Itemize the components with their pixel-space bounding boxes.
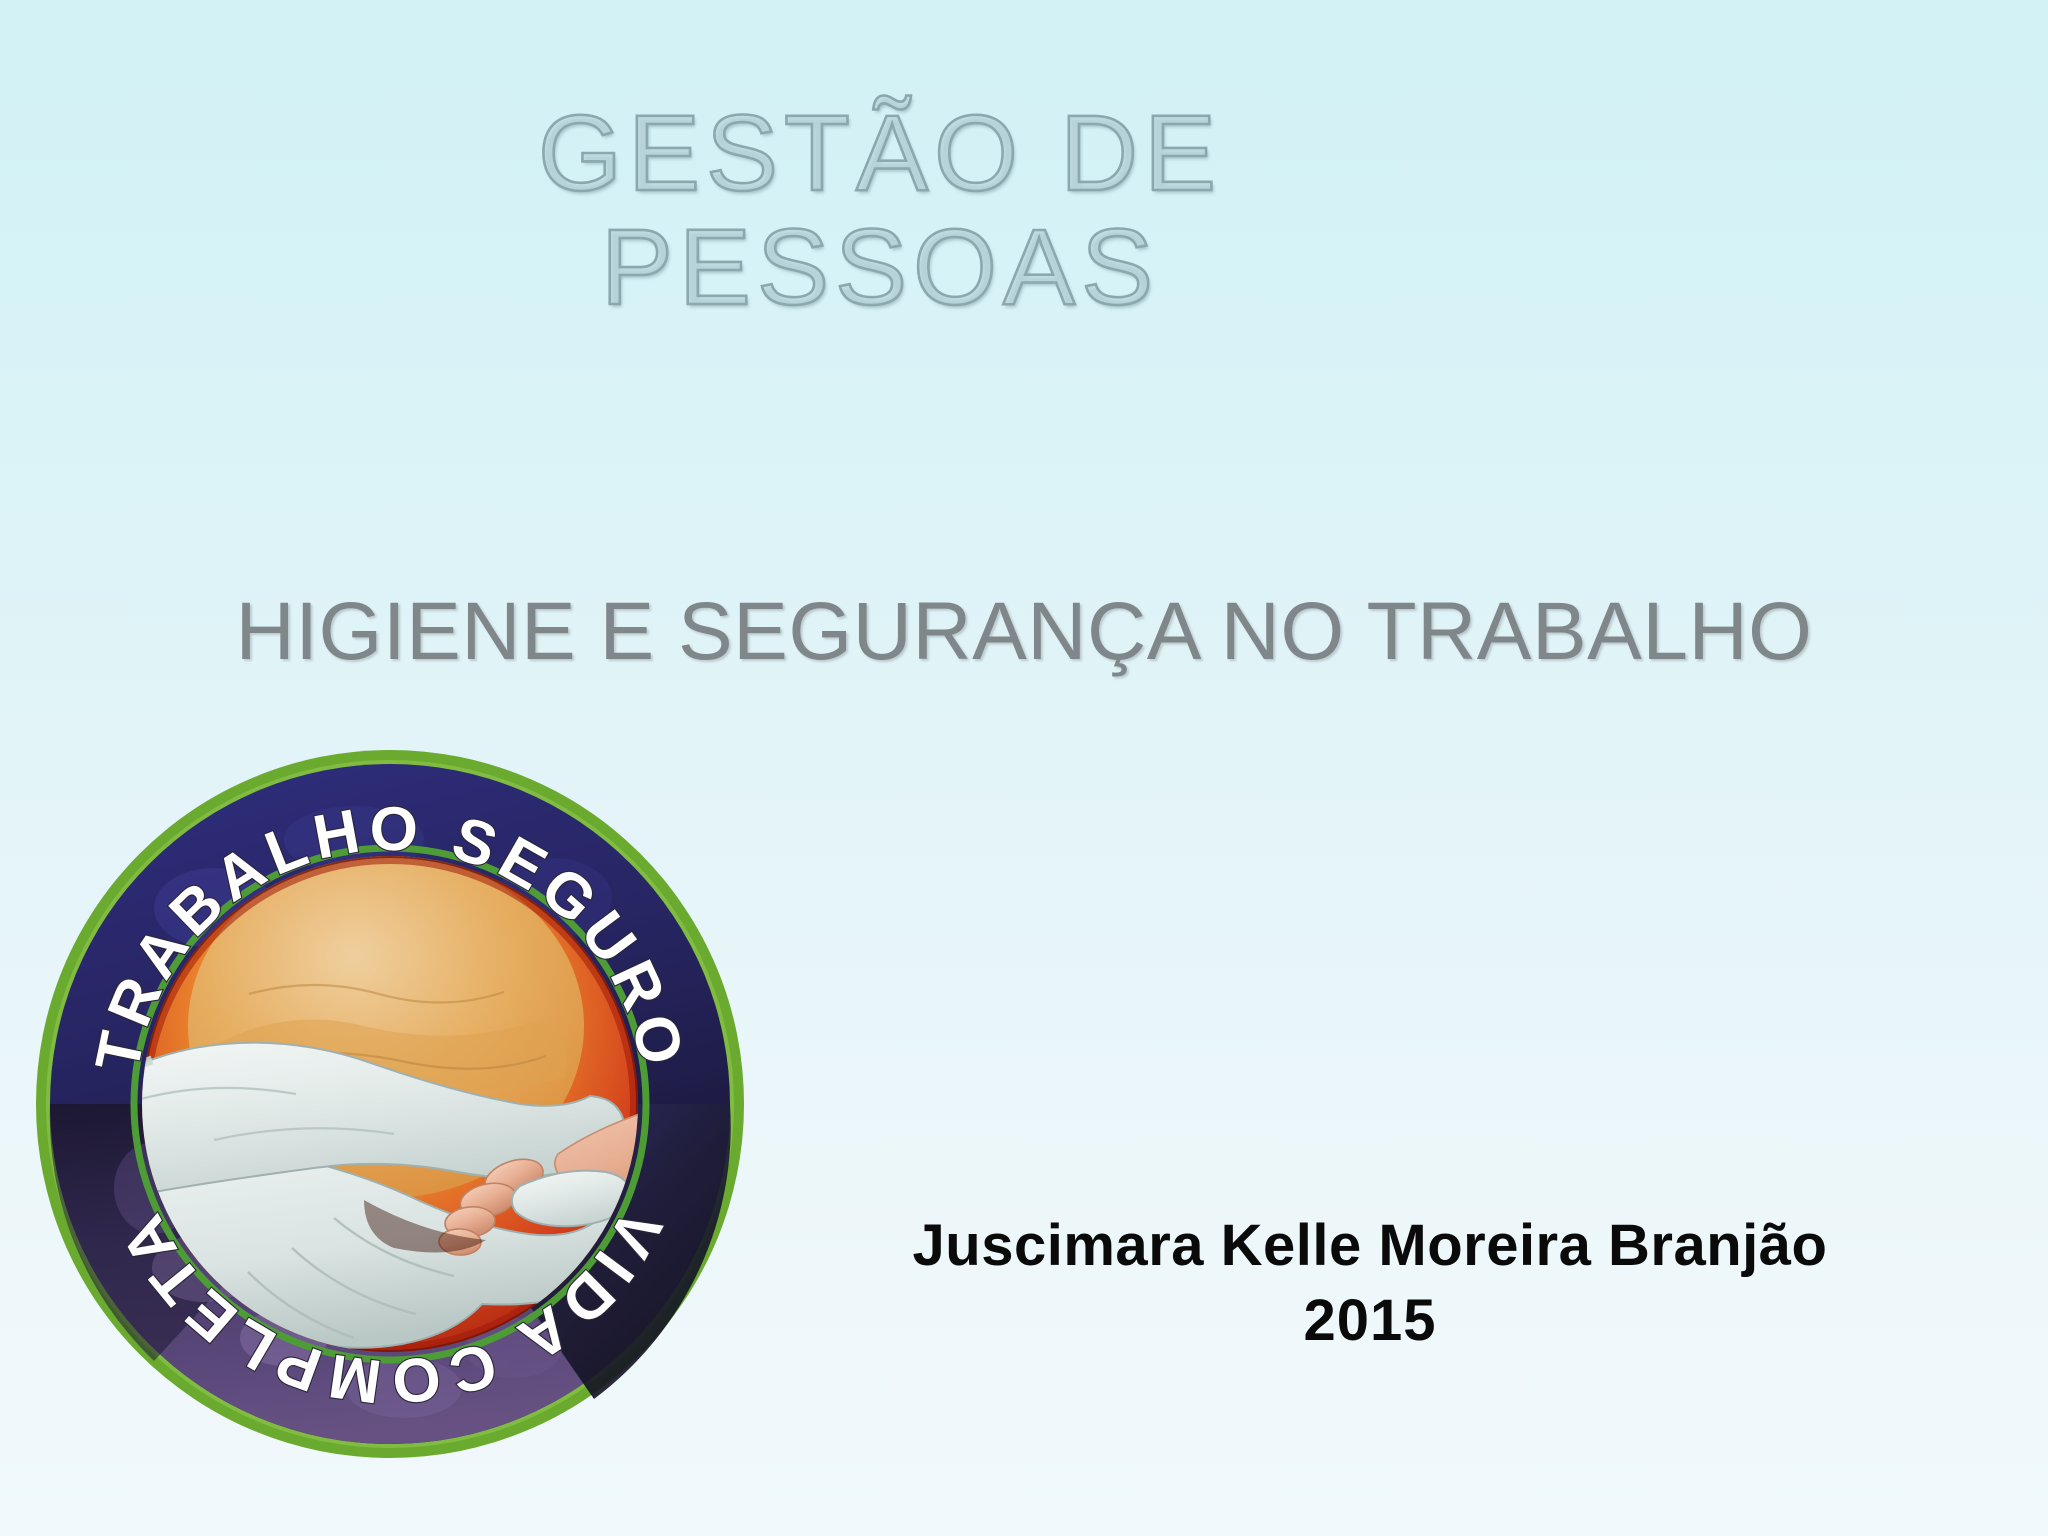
author-year: 2015 (790, 1283, 1950, 1358)
title-line-1: GESTÃO DE (0, 96, 1760, 210)
author-name: Juscimara Kelle Moreira Branjão (790, 1208, 1950, 1283)
badge-graphic: TRABALHO SEGURO VIDA COMPLETA (34, 748, 746, 1460)
trabalho-seguro-badge-logo: TRABALHO SEGURO VIDA COMPLETA (34, 748, 746, 1460)
title-line-2: PESSOAS (0, 210, 1760, 324)
author-block: Juscimara Kelle Moreira Branjão 2015 (790, 1208, 1950, 1359)
subtitle: HIGIENE E SEGURANÇA NO TRABALHO (0, 585, 2048, 679)
page-title: GESTÃO DE PESSOAS (0, 96, 1760, 325)
title-slide: GESTÃO DE PESSOAS HIGIENE E SEGURANÇA NO… (0, 0, 2048, 1536)
